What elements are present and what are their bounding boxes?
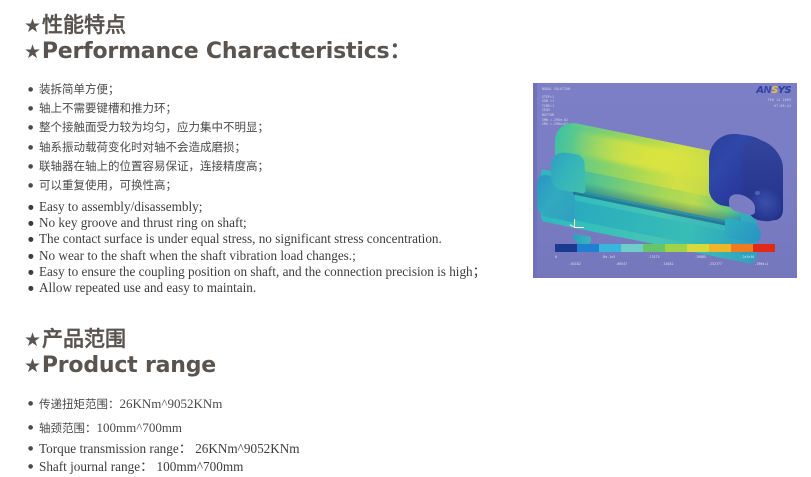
spec-value: 26KNm^9052KNm xyxy=(120,396,223,411)
colorbar-swatch xyxy=(599,244,621,252)
axis-triad-icon xyxy=(569,219,585,235)
colorbar-label: .2e3e30 xyxy=(741,255,787,259)
colorbar-label: .8e-1e3 xyxy=(601,255,647,259)
colorbar-swatch xyxy=(753,244,775,252)
star-icon: ★ xyxy=(24,41,41,63)
model-left-end-cap xyxy=(550,150,585,194)
product-range-heading-en: ★Product range xyxy=(24,352,216,380)
list-item: No wear to the shaft when the shaft vibr… xyxy=(28,248,486,264)
colorbar-label: .19885 xyxy=(694,255,740,259)
performance-heading-en: ★Performance Characteristics： xyxy=(24,38,411,66)
colorbar-swatch xyxy=(687,244,709,252)
colorbar-labels-top: 0 .8e-1e3 .13173 .19885 .2e3e30 xyxy=(555,255,787,259)
list-item: No key groove and thrust ring on shaft; xyxy=(28,215,486,231)
star-icon: ★ xyxy=(24,15,41,37)
colorbar-swatch xyxy=(621,244,643,252)
list-item: Shaft journal range： 100mm^700mm xyxy=(28,458,300,476)
star-icon: ★ xyxy=(24,355,41,377)
ansys-fea-stress-plot: NODAL SOLUTION STEP=1 SUB =1 TIME=1 SEQV… xyxy=(533,83,797,278)
list-item: 联轴器在轴上的位置容易保证，连接精度高； xyxy=(28,157,269,176)
product-range-heading-cn: ★产品范围 xyxy=(24,326,216,352)
list-item: 装拆简单方便； xyxy=(28,80,269,99)
colorbar-swatch xyxy=(665,244,687,252)
list-item: Torque transmission range： 26KNm^9052KNm xyxy=(28,440,300,458)
spec-value: 100mm^700mm xyxy=(97,420,183,435)
colorbar-label: .13173 xyxy=(648,255,694,259)
list-item: The contact surface is under equal stres… xyxy=(28,231,486,247)
product-range-heading-group: ★产品范围 ★Product range xyxy=(24,326,216,380)
list-item: 可以重复使用，可换性高； xyxy=(28,176,269,195)
product-range-specs-en: Torque transmission range： 26KNm^9052KNm… xyxy=(28,440,300,476)
colorbar-label: .232777 xyxy=(708,262,754,266)
colorbar-swatch xyxy=(577,244,599,252)
model-bolt-hole xyxy=(755,191,760,195)
colorbar-label: .16452 xyxy=(662,262,708,266)
colorbar-label: .03182 xyxy=(569,262,615,266)
performance-heading-group: ★性能特点 ★Performance Characteristics： xyxy=(24,12,411,66)
spec-label: 传递扭矩范围： xyxy=(39,397,120,411)
list-item: 轴系振动载荷变化时对轴不会造成磨损； xyxy=(28,138,269,157)
colorbar-label: .06547 xyxy=(615,262,661,266)
performance-bullets-en: Easy to assembly/disassembly; No key gro… xyxy=(28,199,486,296)
list-item: 轴颈范围：100mm^700mm xyxy=(28,416,222,440)
colorbar-label: .296e+1 xyxy=(755,262,797,266)
slide-page: ★性能特点 ★Performance Characteristics： 装拆简单… xyxy=(0,0,811,477)
colorbar-swatch xyxy=(643,244,665,252)
list-item: 整个接触面受力较为均匀，应力集中不明显； xyxy=(28,118,269,137)
axis-x xyxy=(574,227,584,228)
list-item: Easy to ensure the coupling position on … xyxy=(28,264,486,280)
colorbar-label: 0 xyxy=(555,255,601,259)
list-item: 轴上不需要键槽和推力环； xyxy=(28,99,269,118)
list-item: 传递扭矩范围：26KNm^9052KNm xyxy=(28,392,222,416)
colorbar-labels-bottom: .03182 .06547 .16452 .232777 .296e+1 xyxy=(569,262,797,266)
performance-bullets-cn: 装拆简单方便； 轴上不需要键槽和推力环； 整个接触面受力较为均匀，应力集中不明显… xyxy=(28,80,269,195)
spec-label: 轴颈范围： xyxy=(39,421,97,435)
product-range-specs-cn: 传递扭矩范围：26KNm^9052KNm 轴颈范围：100mm^700mm xyxy=(28,392,222,440)
performance-heading-cn: ★性能特点 xyxy=(24,12,411,38)
colorbar-swatch xyxy=(555,244,577,252)
colorbar-swatch xyxy=(709,244,731,252)
list-item: Easy to assembly/disassembly; xyxy=(28,199,486,215)
colorbar-swatch xyxy=(731,244,753,252)
stress-colorbar xyxy=(555,244,775,252)
list-item: Allow repeated use and easy to maintain. xyxy=(28,280,486,296)
star-icon: ★ xyxy=(24,329,41,351)
